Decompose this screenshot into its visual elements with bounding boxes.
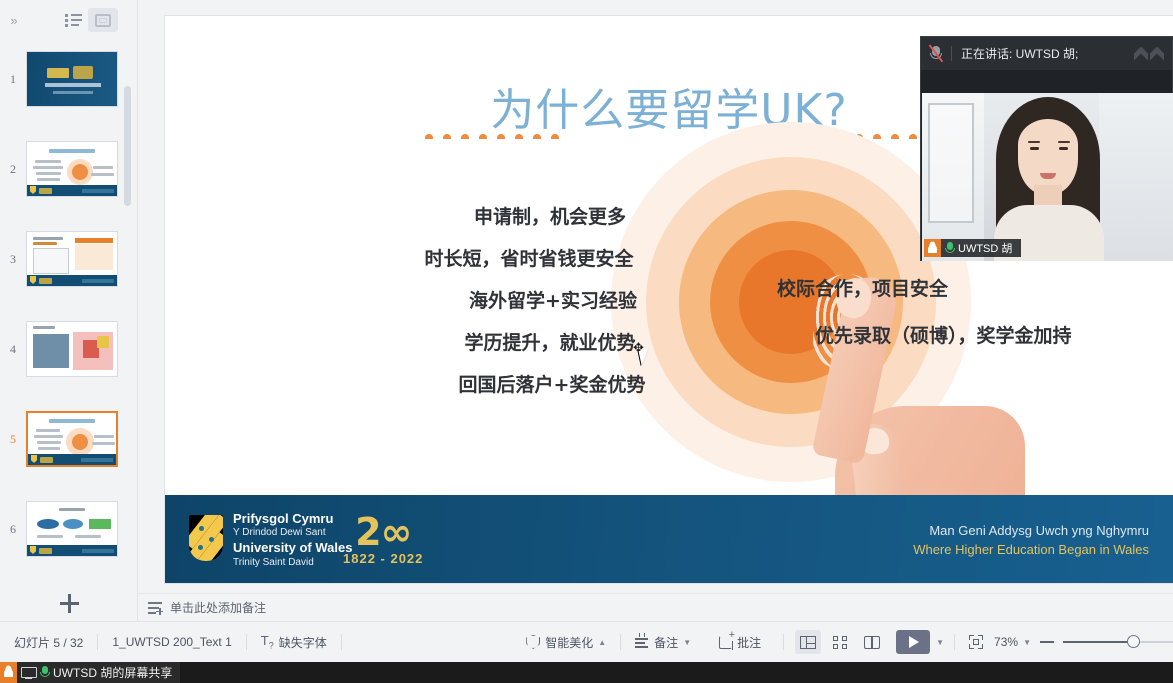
thumbnail-number: 2 [0,162,26,177]
comment-label: 批注 [737,634,761,651]
list-item[interactable]: 3 [0,224,138,294]
bullets-left: 申请制，机会更多 时长短，省时省钱更安全 海外留学+实习经验 学历提升，就业优势… [335,196,765,406]
mouse-cursor: ✥ [633,341,663,375]
comment-icon [719,636,732,649]
microphone-on-icon [39,666,50,679]
zoom-slider-fill [1063,641,1131,643]
notes-icon [148,602,163,614]
thumbnail-number: 1 [0,72,26,87]
microphone-on-icon [944,242,955,255]
screen-share-indicator[interactable]: UWTSD 胡的屏幕共享 [17,662,180,683]
title-dots-left [425,134,559,139]
missing-font-label: 缺失字体 [279,634,327,651]
tagline-english: Where Higher Education Began in Wales [913,540,1149,559]
logo-line-4: Trinity Saint David [233,556,352,569]
status-bar: 幻灯片 5 / 32 1_UWTSD 200_Text 1 T? 缺失字体 智能… [0,621,1173,662]
thumbnail-slide-2[interactable] [26,141,118,197]
anniversary-mark: 2∞ 1822 - 2022 [343,513,423,566]
slideshow-options-chevron-down-icon[interactable]: ▼ [936,638,944,647]
beautify-icon [526,635,540,649]
bullets-right: 校际合作，项目安全 优先录取（硕博），奖学金加持 [777,266,1157,360]
list-item[interactable]: 5 [0,404,138,474]
fit-to-window-icon [969,635,983,649]
thumbnail-number: 3 [0,252,26,267]
slide-panel-icon[interactable] [88,8,118,32]
thumbnail-pane-scrollbar[interactable] [124,86,131,206]
logo-line-1: Prifysgol Cymru [233,511,352,526]
thumbnail-slide-6[interactable] [26,501,118,557]
notes-toggle-label: 备注 [654,634,678,651]
list-item[interactable]: 2 [0,134,138,204]
view-normal-button[interactable] [795,630,821,654]
view-sorter-button[interactable] [827,630,853,654]
bullet-item: 校际合作，项目安全 [777,266,1157,313]
video-panel[interactable]: 正在讲话: UWTSD 胡; UWTSD 胡 [920,36,1173,261]
zoom-level-label: 73% [994,635,1018,649]
missing-font-warning[interactable]: T? 缺失字体 [247,633,341,651]
notes-toggle-button[interactable]: 备注 ▼ [621,634,705,651]
logo-line-3: University of Wales [233,540,352,556]
video-panel-header: 正在讲话: UWTSD 胡; [921,37,1172,70]
beautify-button[interactable]: 智能美化 ▲ [512,634,620,651]
view-reading-button[interactable] [859,630,885,654]
list-item[interactable]: 6 [0,494,138,564]
divider [783,634,784,650]
collapse-pane-button[interactable]: » [0,0,26,40]
play-icon [909,636,919,648]
chevron-down-icon[interactable]: ▼ [683,638,691,647]
selected-object-name[interactable]: 1_UWTSD 200_Text 1 [98,635,245,649]
slide-counter[interactable]: 幻灯片 5 / 32 [0,634,97,651]
university-logo-text: Prifysgol Cymru Y Drindod Dewi Sant Univ… [233,511,352,569]
anniversary-years: 1822 - 2022 [343,551,423,566]
participant-video[interactable]: UWTSD 胡 [922,93,1173,261]
thumbnail-number: 5 [0,432,26,447]
person-icon [924,239,941,257]
divider [341,634,342,650]
thumbnail-slide-4[interactable] [26,321,118,377]
plus-icon [60,594,79,613]
normal-view-icon [800,636,816,649]
university-crest-icon [189,515,223,561]
thumbnail-pane-toolbar: » [0,0,138,40]
notes-icon [635,636,649,648]
bullet-item: 申请制，机会更多 [335,196,765,238]
slide-thumbnail-pane[interactable]: 1 2 [0,40,138,585]
thumbnail-slide-1[interactable] [26,51,118,107]
notes-placeholder: 单击此处添加备注 [170,599,266,616]
speaking-label: 正在讲话: UWTSD 胡; [961,45,1078,62]
add-slide-button[interactable] [0,585,138,621]
chevron-up-icon[interactable]: ▲ [598,638,606,647]
chevrons-icon[interactable] [1134,47,1164,61]
taskbar-label: UWTSD 胡的屏幕共享 [53,664,180,681]
taskbar: UWTSD 胡的屏幕共享 [0,662,1173,683]
person-icon [0,662,17,683]
tagline-welsh: Man Geni Addysg Uwch yng Nghymru [913,521,1149,540]
list-item[interactable]: 1 [0,44,138,114]
participant-name: UWTSD 胡 [958,240,1012,256]
participant-name-badge: UWTSD 胡 [924,239,1021,257]
outline-view-icon[interactable] [58,8,88,32]
thumbnail-slide-5[interactable] [26,411,118,467]
zoom-out-button[interactable] [1040,641,1054,643]
fit-to-window-button[interactable] [955,635,994,649]
zoom-slider[interactable] [1063,635,1173,649]
list-item[interactable]: 4 [0,314,138,384]
anniversary-number: 2∞ [343,513,423,551]
bullet-item: 优先录取（硕博），奖学金加持 [815,313,1157,360]
zoom-level[interactable]: 73% ▼ [994,635,1031,649]
logo-line-2: Y Drindod Dewi Sant [233,526,352,539]
screen-share-icon [21,667,36,679]
bullet-item: 学历提升，就业优势 [335,322,765,364]
bullet-item: 回国后落户+奖金优势 [339,364,765,406]
thumbnail-slide-3[interactable] [26,231,118,287]
reading-view-icon [864,636,880,649]
microphone-muted-icon[interactable] [929,45,943,62]
notes-bar[interactable]: 单击此处添加备注 [138,593,1173,621]
slide-footer-band: Prifysgol Cymru Y Drindod Dewi Sant Univ… [165,495,1173,583]
beautify-label: 智能美化 [545,634,593,651]
thumbnail-number: 6 [0,522,26,537]
chevron-down-icon[interactable]: ▼ [1023,638,1031,647]
comment-button[interactable]: 批注 [705,634,775,651]
start-slideshow-button[interactable] [896,630,930,654]
thumbnail-number: 4 [0,342,26,357]
footer-tagline: Man Geni Addysg Uwch yng Nghymru Where H… [913,521,1149,559]
zoom-slider-knob[interactable] [1127,635,1140,648]
bullet-item: 时长短，省时省钱更安全 [293,238,765,280]
bullet-item: 海外留学+实习经验 [341,280,765,322]
slide-sorter-icon [833,636,847,649]
missing-font-icon: T? [261,633,274,651]
